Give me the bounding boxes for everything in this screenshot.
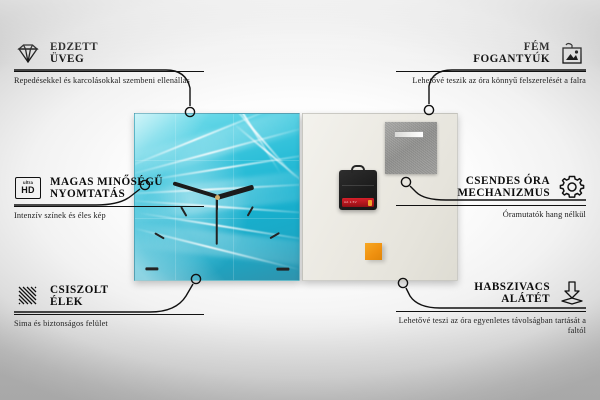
gear-icon [558, 173, 586, 201]
clock-marker-3 [276, 268, 289, 271]
battery-label: AA 1.5V [344, 200, 357, 204]
feature-title-line2: FOGANTYÚK [396, 53, 550, 65]
feature-title-line2: ALÁTÉT [396, 293, 550, 305]
feature-title-line2: MECHANIZMUS [396, 187, 550, 199]
feature-description: Intenzív színek és éles kép [14, 211, 204, 221]
feature-hd-print: ultra HD MAGAS MINŐSÉGŰ NYOMTATÁS Intenz… [14, 173, 204, 221]
feature-polished-edges: CSISZOLT ÉLEK Sima és biztonságos felüle… [14, 281, 204, 329]
feature-heading: HABSZIVACS ALÁTÉT [396, 278, 586, 308]
diamond-icon [14, 39, 42, 67]
feature-description: Sima és biztonságos felület [14, 319, 204, 329]
feature-title-line1: CSENDES ÓRA [396, 175, 550, 187]
feature-title-line2: ÉLEK [50, 296, 204, 308]
feature-tempered-glass: EDZETT ÜVEG Repedésekkel és karcolásokka… [14, 38, 204, 86]
feature-metal-hooks: FÉM FOGANTYÚK Lehetővé teszik az óra kön… [396, 38, 586, 86]
feature-title: CSENDES ÓRA MECHANIZMUS [396, 175, 550, 200]
feature-foam-pad: HABSZIVACS ALÁTÉT Lehetővé teszi az óra … [396, 278, 586, 336]
feature-heading: EDZETT ÜVEG [14, 38, 204, 68]
feature-title: HABSZIVACS ALÁTÉT [396, 281, 550, 306]
mechanism-seam [342, 185, 374, 186]
feature-title-line1: HABSZIVACS [396, 281, 550, 293]
feature-heading: ultra HD MAGAS MINŐSÉGŰ NYOMTATÁS [14, 173, 204, 203]
feature-title-line1: EDZETT [50, 41, 204, 53]
clock-hand-cap [215, 195, 220, 200]
feature-title: CSISZOLT ÉLEK [50, 284, 204, 309]
hanger-slot [394, 131, 424, 138]
feature-description: Repedésekkel és karcolásokkal szembeni e… [14, 76, 204, 86]
clock-mechanism: AA 1.5V [339, 170, 377, 210]
feature-description: Lehetővé teszi az óra egyenletes távolsá… [396, 316, 586, 336]
infographic-canvas: AA 1.5V [0, 0, 600, 400]
ultra-hd-badge: ultra HD [15, 177, 41, 199]
mechanism-hanging-loop [351, 165, 365, 173]
feature-title-line2: NYOMTATÁS [50, 188, 204, 200]
feature-heading: CSENDES ÓRA MECHANIZMUS [396, 172, 586, 202]
feature-title-line1: MAGAS MINŐSÉGŰ [50, 176, 204, 188]
feature-heading: CSISZOLT ÉLEK [14, 281, 204, 311]
down-arrow-pad-icon [558, 279, 586, 307]
feature-title: EDZETT ÜVEG [50, 41, 204, 66]
feature-silent-mechanism: CSENDES ÓRA MECHANIZMUS Óramutatók hang … [396, 172, 586, 220]
clock-marker-9 [145, 268, 158, 271]
picture-frame-hook-icon [558, 39, 586, 67]
ultra-hd-large-label: HD [21, 186, 34, 195]
feature-title-line1: FÉM [396, 41, 550, 53]
feature-title-line2: ÜVEG [50, 53, 204, 65]
print-grid-line [233, 114, 234, 281]
feature-divider [396, 205, 586, 206]
feature-divider [14, 314, 204, 315]
feature-title: MAGAS MINŐSÉGŰ NYOMTATÁS [50, 176, 204, 201]
feature-description: Lehetővé teszik az óra könnyű felszerelé… [396, 76, 586, 86]
feature-divider [14, 206, 204, 207]
print-grid-line [135, 160, 300, 161]
feature-divider [396, 71, 586, 72]
feature-divider [396, 311, 586, 312]
ultra-hd-icon: ultra HD [14, 174, 42, 202]
foam-spacer-pad [365, 243, 382, 260]
battery-terminal [368, 200, 372, 206]
feature-divider [14, 71, 204, 72]
feature-heading: FÉM FOGANTYÚK [396, 38, 586, 68]
beveled-edge-icon [14, 282, 42, 310]
feature-title-line1: CSISZOLT [50, 284, 204, 296]
feature-description: Óramutatók hang nélkül [396, 210, 586, 220]
metal-hanger-plate [385, 122, 437, 174]
feature-title: FÉM FOGANTYÚK [396, 41, 550, 66]
clock-second-hand [216, 197, 218, 245]
battery: AA 1.5V [342, 198, 374, 207]
